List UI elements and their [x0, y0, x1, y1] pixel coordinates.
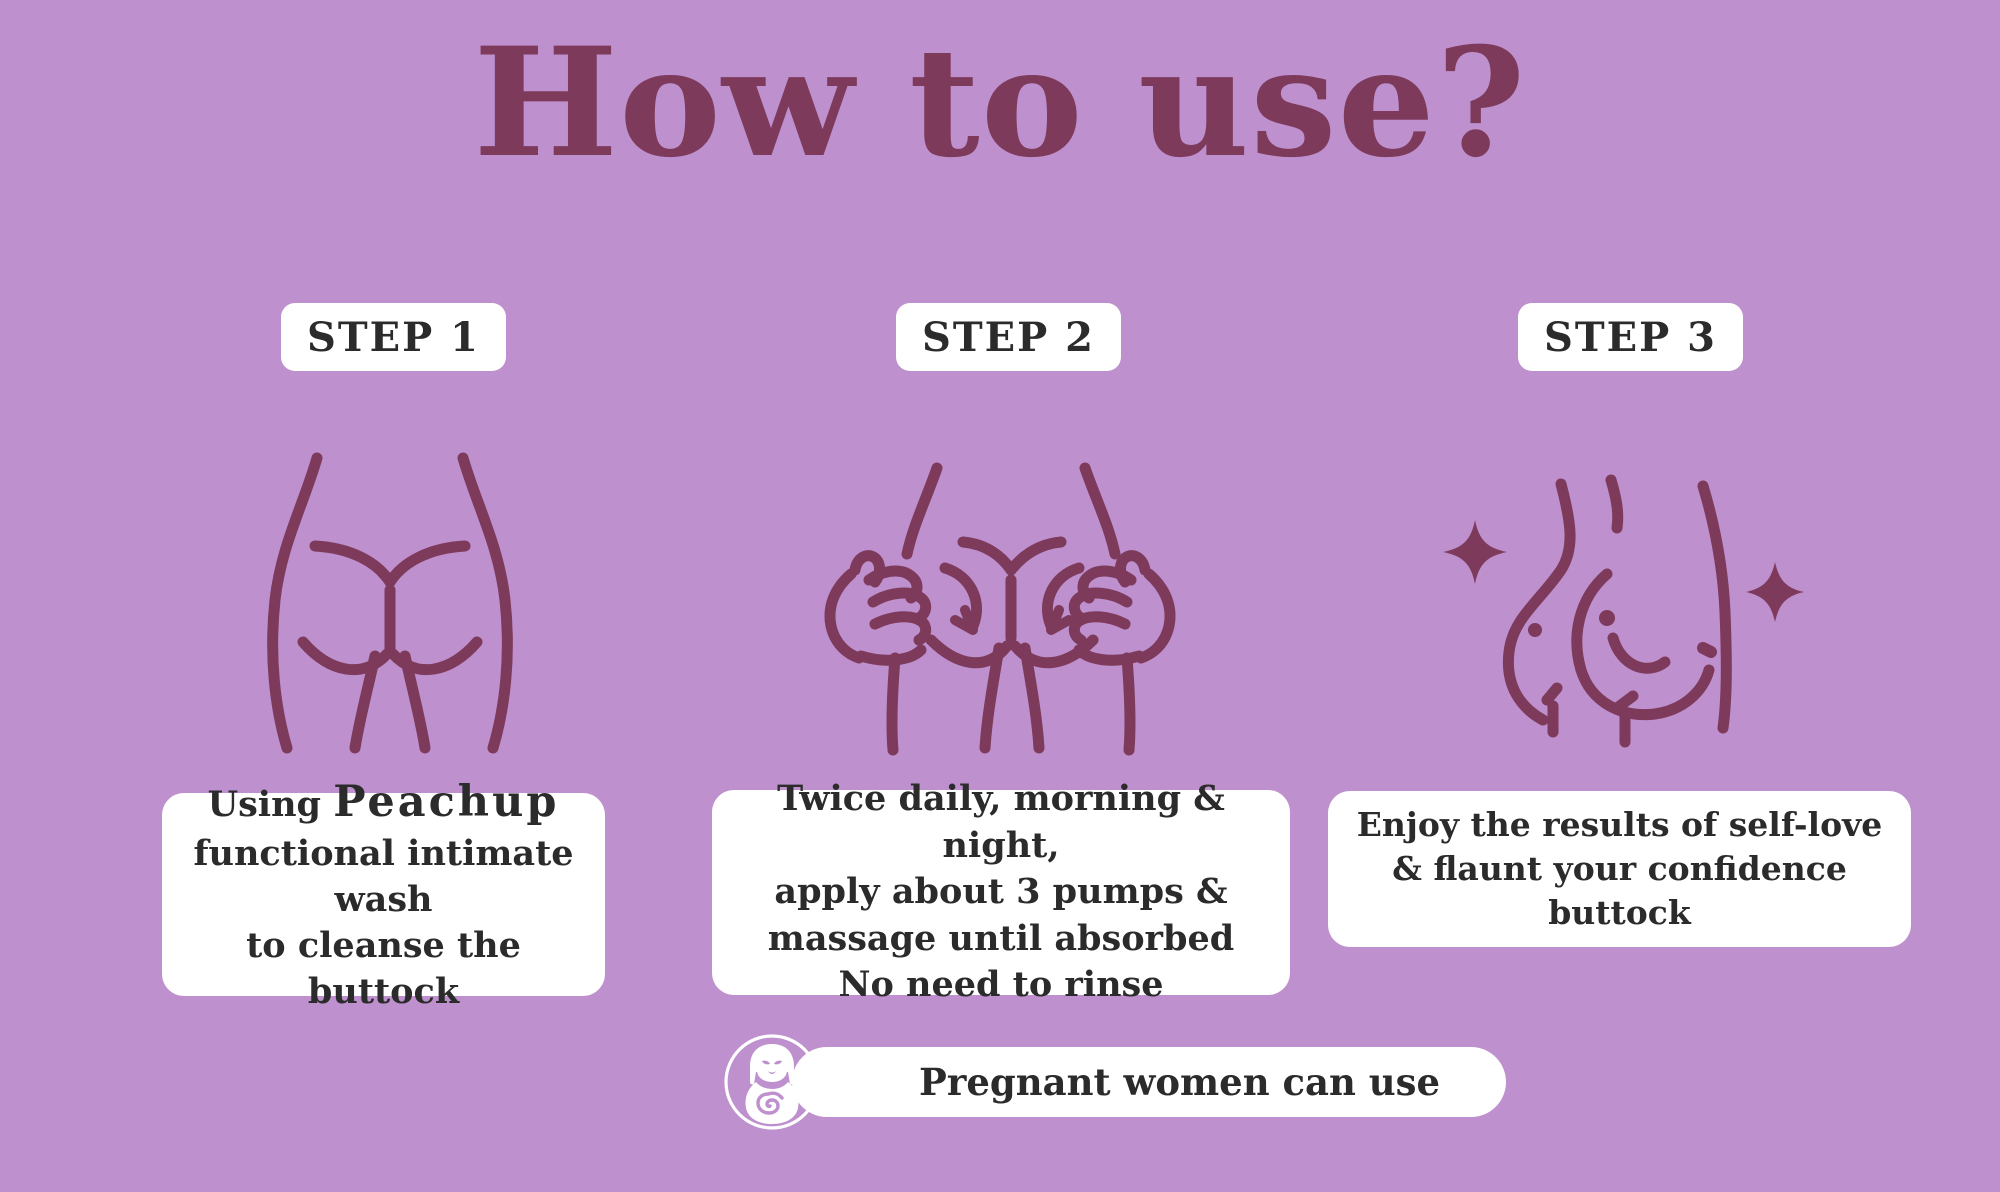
pregnancy-safe-pill: Pregnant women can use [792, 1047, 1506, 1117]
step-badge-1: STEP 1 [281, 303, 506, 371]
buttocks-massage-hands-icon [795, 450, 1205, 760]
step-2-line-1: Twice daily, morning & night, [728, 776, 1274, 869]
step-1-description-card: Using Peachup functional intimate wash t… [162, 793, 605, 996]
pregnancy-safe-label: Pregnant women can use [919, 1060, 1440, 1104]
buttocks-front-icon [245, 450, 535, 760]
step-2-line-4: No need to rinse [728, 962, 1274, 1009]
step-badge-1-label: STEP 1 [307, 314, 480, 361]
pregnant-woman-icon [722, 1032, 822, 1132]
step-badge-3-label: STEP 3 [1544, 314, 1717, 361]
step-badge-2-label: STEP 2 [922, 314, 1095, 361]
page-title: How to use? [0, 28, 2000, 178]
step-3-line-1: Enjoy the results of self-love [1344, 803, 1895, 847]
step-2-description-card: Twice daily, morning & night, apply abou… [712, 790, 1290, 995]
step-2-line-2: apply about 3 pumps & [728, 869, 1274, 916]
step-badge-3: STEP 3 [1518, 303, 1743, 371]
step-1-line-2: functional intimate wash [176, 831, 591, 923]
step-badge-2: STEP 2 [896, 303, 1121, 371]
step-3-line-2: & flaunt your confidence buttock [1344, 847, 1895, 935]
buttocks-sideview-sparkle-icon [1435, 470, 1805, 760]
brand-name: Peachup [333, 777, 559, 827]
step-3-description-card: Enjoy the results of self-love & flaunt … [1328, 791, 1911, 947]
poster-canvas: How to use? STEP 1 STEP 2 STEP 3 [0, 0, 2000, 1192]
step-1-line-3: to cleanse the buttock [176, 923, 591, 1015]
step-1-line-1-prefix: Using [208, 784, 321, 825]
step-1-line-1: Using Peachup [176, 774, 591, 831]
step-2-line-3: massage until absorbed [728, 916, 1274, 963]
